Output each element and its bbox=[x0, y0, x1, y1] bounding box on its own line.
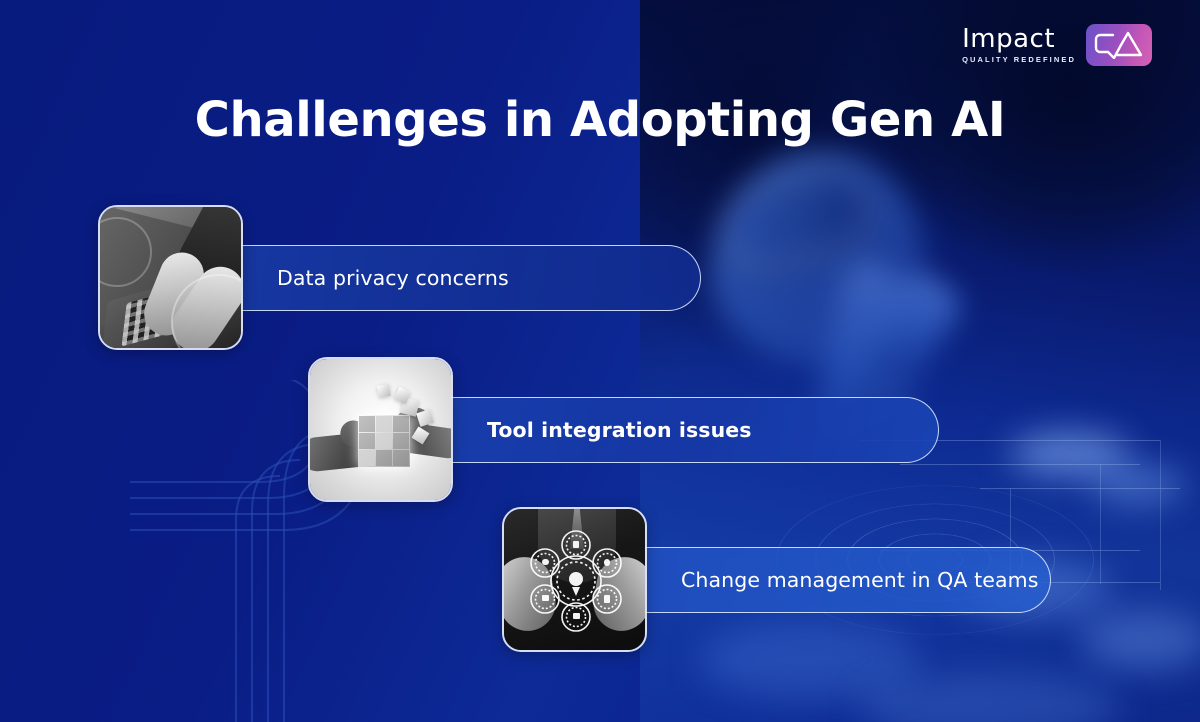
challenge-label-1: Data privacy concerns bbox=[277, 266, 509, 290]
gear-network-icon bbox=[504, 509, 647, 652]
challenge-item-1[interactable]: Data privacy concerns bbox=[98, 205, 701, 350]
logo-wordmark: Impact QUALITY REDEFINED bbox=[962, 26, 1076, 64]
challenge-label-card-1[interactable]: Data privacy concerns bbox=[235, 245, 701, 311]
slide-root: Impact QUALITY REDEFINED Challenges in A… bbox=[0, 0, 1200, 722]
challenge-label-3: Change management in QA teams bbox=[681, 568, 1039, 592]
challenge-label-card-2[interactable]: Tool integration issues bbox=[445, 397, 939, 463]
logo-tagline: QUALITY REDEFINED bbox=[962, 56, 1076, 64]
logo-qa-badge bbox=[1086, 24, 1152, 66]
challenge-label-2: Tool integration issues bbox=[487, 418, 752, 442]
logo-brand-text: Impact bbox=[962, 26, 1055, 52]
challenge-label-card-3[interactable]: Change management in QA teams bbox=[639, 547, 1051, 613]
impactqa-logo[interactable]: Impact QUALITY REDEFINED bbox=[962, 24, 1152, 66]
challenge-item-3[interactable]: Change management in QA teams bbox=[502, 507, 1051, 652]
hands-holding-gear-network-photo bbox=[502, 507, 647, 652]
qa-monogram-icon bbox=[1094, 31, 1144, 59]
page-title: Challenges in Adopting Gen AI bbox=[0, 92, 1200, 148]
hands-assembling-puzzle-cube-photo bbox=[308, 357, 453, 502]
challenge-item-2[interactable]: Tool integration issues bbox=[308, 357, 939, 502]
hands-typing-on-laptop-photo bbox=[98, 205, 243, 350]
